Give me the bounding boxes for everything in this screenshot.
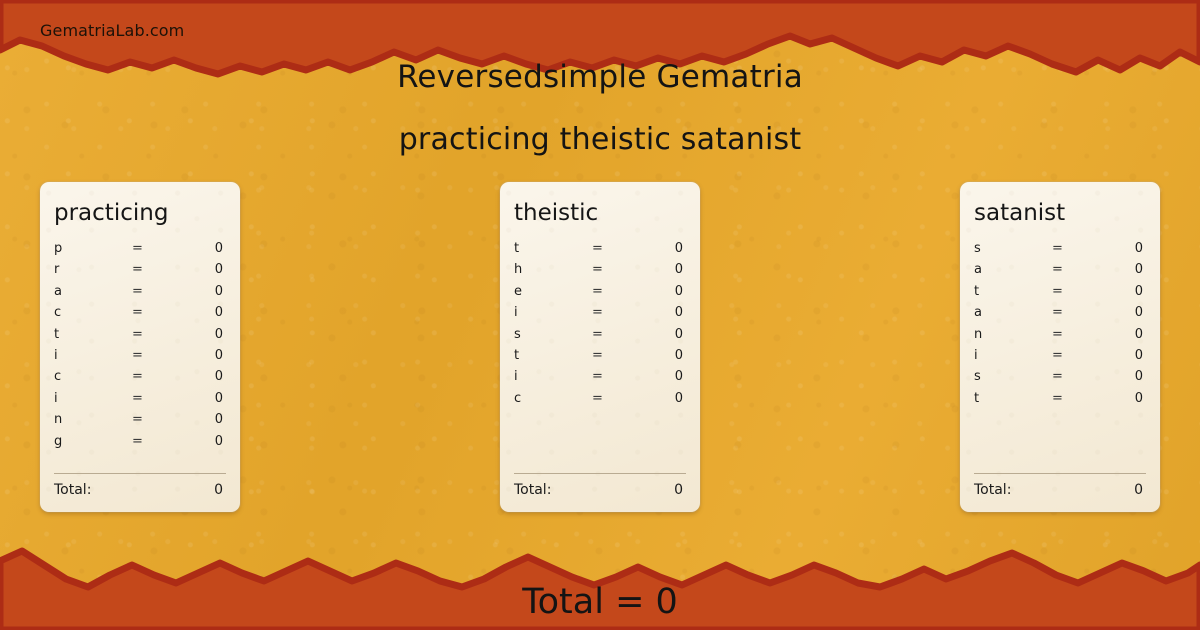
letter-row: r = 0 xyxy=(40,262,240,283)
equals-sign: = xyxy=(592,262,603,277)
letter-char: t xyxy=(514,348,519,363)
equals-sign: = xyxy=(132,412,143,427)
equals-sign: = xyxy=(132,305,143,320)
card-total-value: 0 xyxy=(1134,482,1143,498)
letter-char: g xyxy=(54,434,62,449)
equals-sign: = xyxy=(1052,241,1063,256)
letter-value: 0 xyxy=(1135,262,1143,277)
letter-char: a xyxy=(974,262,982,277)
card-total-value: 0 xyxy=(674,482,683,498)
letter-char: s xyxy=(974,369,981,384)
letter-row: g = 0 xyxy=(40,434,240,455)
letter-char: t xyxy=(974,284,979,299)
word-card-theistic: theistic t = 0 h = 0 e = 0 i xyxy=(500,182,700,512)
letter-value: 0 xyxy=(1135,284,1143,299)
letter-row: t = 0 xyxy=(40,327,240,348)
word-card-title: theistic xyxy=(514,200,598,226)
letter-value-list: p = 0 r = 0 a = 0 c = 0 xyxy=(40,241,240,455)
letter-char: i xyxy=(54,391,58,406)
letter-value: 0 xyxy=(1135,241,1143,256)
card-total-row: Total: 0 xyxy=(500,482,700,502)
word-card-title: satanist xyxy=(974,200,1065,226)
letter-char: i xyxy=(974,348,978,363)
letter-char: s xyxy=(974,241,981,256)
card-total-label: Total: xyxy=(974,482,1011,498)
letter-row: p = 0 xyxy=(40,241,240,262)
letter-value: 0 xyxy=(675,305,683,320)
letter-row: t = 0 xyxy=(960,391,1160,412)
card-divider xyxy=(54,473,226,474)
letter-value: 0 xyxy=(215,305,223,320)
equals-sign: = xyxy=(592,348,603,363)
letter-value: 0 xyxy=(215,348,223,363)
letter-char: t xyxy=(974,391,979,406)
letter-char: t xyxy=(54,327,59,342)
letter-row: c = 0 xyxy=(40,305,240,326)
word-card-satanist: satanist s = 0 a = 0 t = 0 a xyxy=(960,182,1160,512)
word-card-practicing: practicing p = 0 r = 0 a = 0 c xyxy=(40,182,240,512)
word-card-title: practicing xyxy=(54,200,168,226)
card-total-row: Total: 0 xyxy=(960,482,1160,502)
letter-value: 0 xyxy=(675,241,683,256)
equals-sign: = xyxy=(1052,305,1063,320)
card-total-value: 0 xyxy=(214,482,223,498)
equals-sign: = xyxy=(1052,262,1063,277)
letter-value: 0 xyxy=(675,284,683,299)
letter-value: 0 xyxy=(215,412,223,427)
letter-char: r xyxy=(54,262,59,277)
letter-char: i xyxy=(54,348,58,363)
site-logo[interactable]: GematriaLab.com xyxy=(40,21,184,40)
letter-row: t = 0 xyxy=(500,241,700,262)
letter-value: 0 xyxy=(215,434,223,449)
equals-sign: = xyxy=(132,284,143,299)
letter-value: 0 xyxy=(1135,391,1143,406)
letter-row: i = 0 xyxy=(40,391,240,412)
letter-value: 0 xyxy=(1135,305,1143,320)
equals-sign: = xyxy=(592,305,603,320)
equals-sign: = xyxy=(1052,327,1063,342)
equals-sign: = xyxy=(1052,284,1063,299)
letter-row: n = 0 xyxy=(40,412,240,433)
letter-char: s xyxy=(514,327,521,342)
card-total-label: Total: xyxy=(54,482,91,498)
equals-sign: = xyxy=(132,327,143,342)
letter-char: i xyxy=(514,369,518,384)
page-title: Reversedsimple Gematria xyxy=(0,59,1200,95)
letter-row: s = 0 xyxy=(500,327,700,348)
letter-value: 0 xyxy=(1135,348,1143,363)
letter-char: c xyxy=(514,391,521,406)
letter-row: a = 0 xyxy=(40,284,240,305)
letter-char: c xyxy=(54,369,61,384)
equals-sign: = xyxy=(1052,369,1063,384)
letter-row: a = 0 xyxy=(960,305,1160,326)
page-subtitle-phrase: practicing theistic satanist xyxy=(0,122,1200,157)
letter-value: 0 xyxy=(675,391,683,406)
equals-sign: = xyxy=(592,369,603,384)
equals-sign: = xyxy=(1052,391,1063,406)
letter-value: 0 xyxy=(215,327,223,342)
letter-char: i xyxy=(514,305,518,320)
card-total-row: Total: 0 xyxy=(40,482,240,502)
equals-sign: = xyxy=(132,391,143,406)
letter-value: 0 xyxy=(1135,369,1143,384)
letter-value: 0 xyxy=(215,284,223,299)
letter-value-list: s = 0 a = 0 t = 0 a = 0 xyxy=(960,241,1160,412)
letter-row: i = 0 xyxy=(40,348,240,369)
equals-sign: = xyxy=(132,348,143,363)
letter-value: 0 xyxy=(215,369,223,384)
equals-sign: = xyxy=(592,391,603,406)
letter-row: e = 0 xyxy=(500,284,700,305)
equals-sign: = xyxy=(1052,348,1063,363)
letter-char: h xyxy=(514,262,522,277)
letter-char: e xyxy=(514,284,522,299)
letter-row: s = 0 xyxy=(960,241,1160,262)
letter-value: 0 xyxy=(675,348,683,363)
equals-sign: = xyxy=(592,327,603,342)
letter-row: t = 0 xyxy=(960,284,1160,305)
equals-sign: = xyxy=(592,241,603,256)
letter-value: 0 xyxy=(215,241,223,256)
letter-value-list: t = 0 h = 0 e = 0 i = 0 xyxy=(500,241,700,412)
letter-row: a = 0 xyxy=(960,262,1160,283)
letter-row: t = 0 xyxy=(500,348,700,369)
letter-char: n xyxy=(54,412,62,427)
letter-row: i = 0 xyxy=(960,348,1160,369)
letter-value: 0 xyxy=(675,262,683,277)
card-divider xyxy=(974,473,1146,474)
grand-total: Total = 0 xyxy=(0,582,1200,622)
equals-sign: = xyxy=(132,434,143,449)
letter-char: a xyxy=(54,284,62,299)
letter-char: p xyxy=(54,241,62,256)
letter-char: n xyxy=(974,327,982,342)
letter-row: h = 0 xyxy=(500,262,700,283)
letter-row: i = 0 xyxy=(500,305,700,326)
letter-row: s = 0 xyxy=(960,369,1160,390)
letter-char: a xyxy=(974,305,982,320)
letter-value: 0 xyxy=(215,262,223,277)
letter-value: 0 xyxy=(675,327,683,342)
card-total-label: Total: xyxy=(514,482,551,498)
letter-row: n = 0 xyxy=(960,327,1160,348)
equals-sign: = xyxy=(592,284,603,299)
letter-row: c = 0 xyxy=(500,391,700,412)
card-divider xyxy=(514,473,686,474)
letter-value: 0 xyxy=(1135,327,1143,342)
letter-char: t xyxy=(514,241,519,256)
letter-char: c xyxy=(54,305,61,320)
word-cards-row: practicing p = 0 r = 0 a = 0 c xyxy=(0,182,1200,514)
letter-row: c = 0 xyxy=(40,369,240,390)
letter-value: 0 xyxy=(215,391,223,406)
equals-sign: = xyxy=(132,369,143,384)
letter-value: 0 xyxy=(675,369,683,384)
letter-row: i = 0 xyxy=(500,369,700,390)
equals-sign: = xyxy=(132,262,143,277)
equals-sign: = xyxy=(132,241,143,256)
gematria-result-canvas: GematriaLab.com Reversedsimple Gematria … xyxy=(0,0,1200,630)
